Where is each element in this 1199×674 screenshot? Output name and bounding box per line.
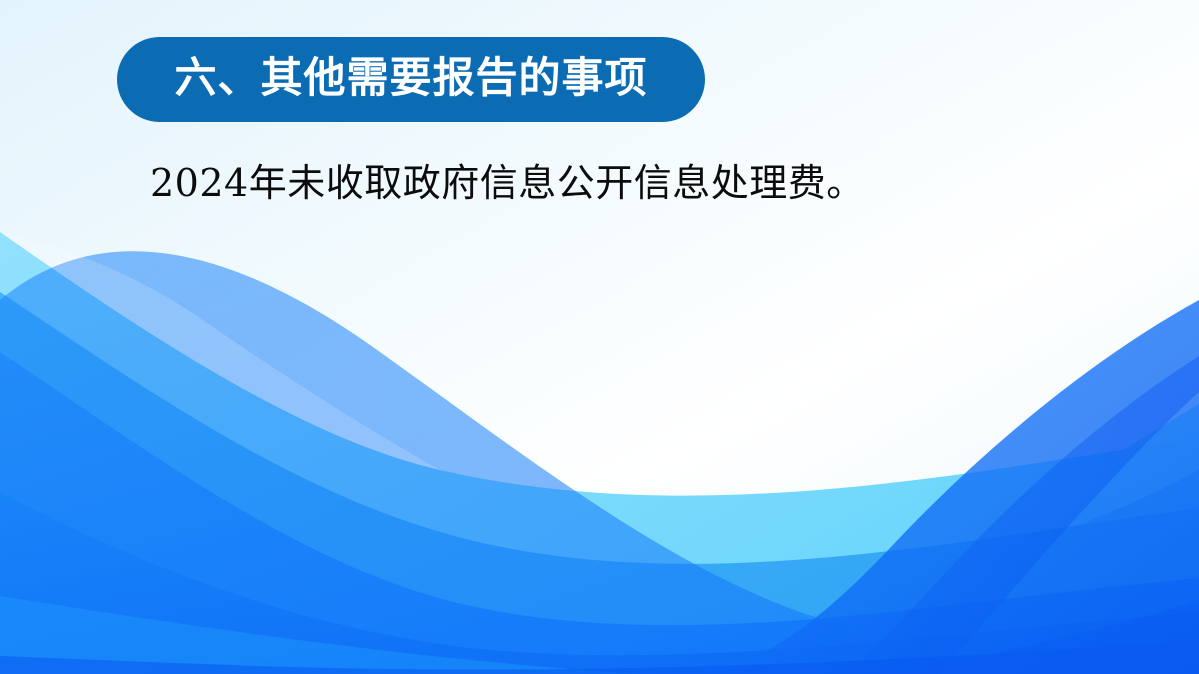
section-title-pill: 六、其他需要报告的事项 [117,37,705,122]
slide-content: 六、其他需要报告的事项 2024年未收取政府信息公开信息处理费。 [0,0,1199,674]
section-title-text: 六、其他需要报告的事项 [174,57,647,99]
slide-canvas: 六、其他需要报告的事项 2024年未收取政府信息公开信息处理费。 [0,0,1199,674]
body-paragraph: 2024年未收取政府信息公开信息处理费。 [150,158,865,209]
